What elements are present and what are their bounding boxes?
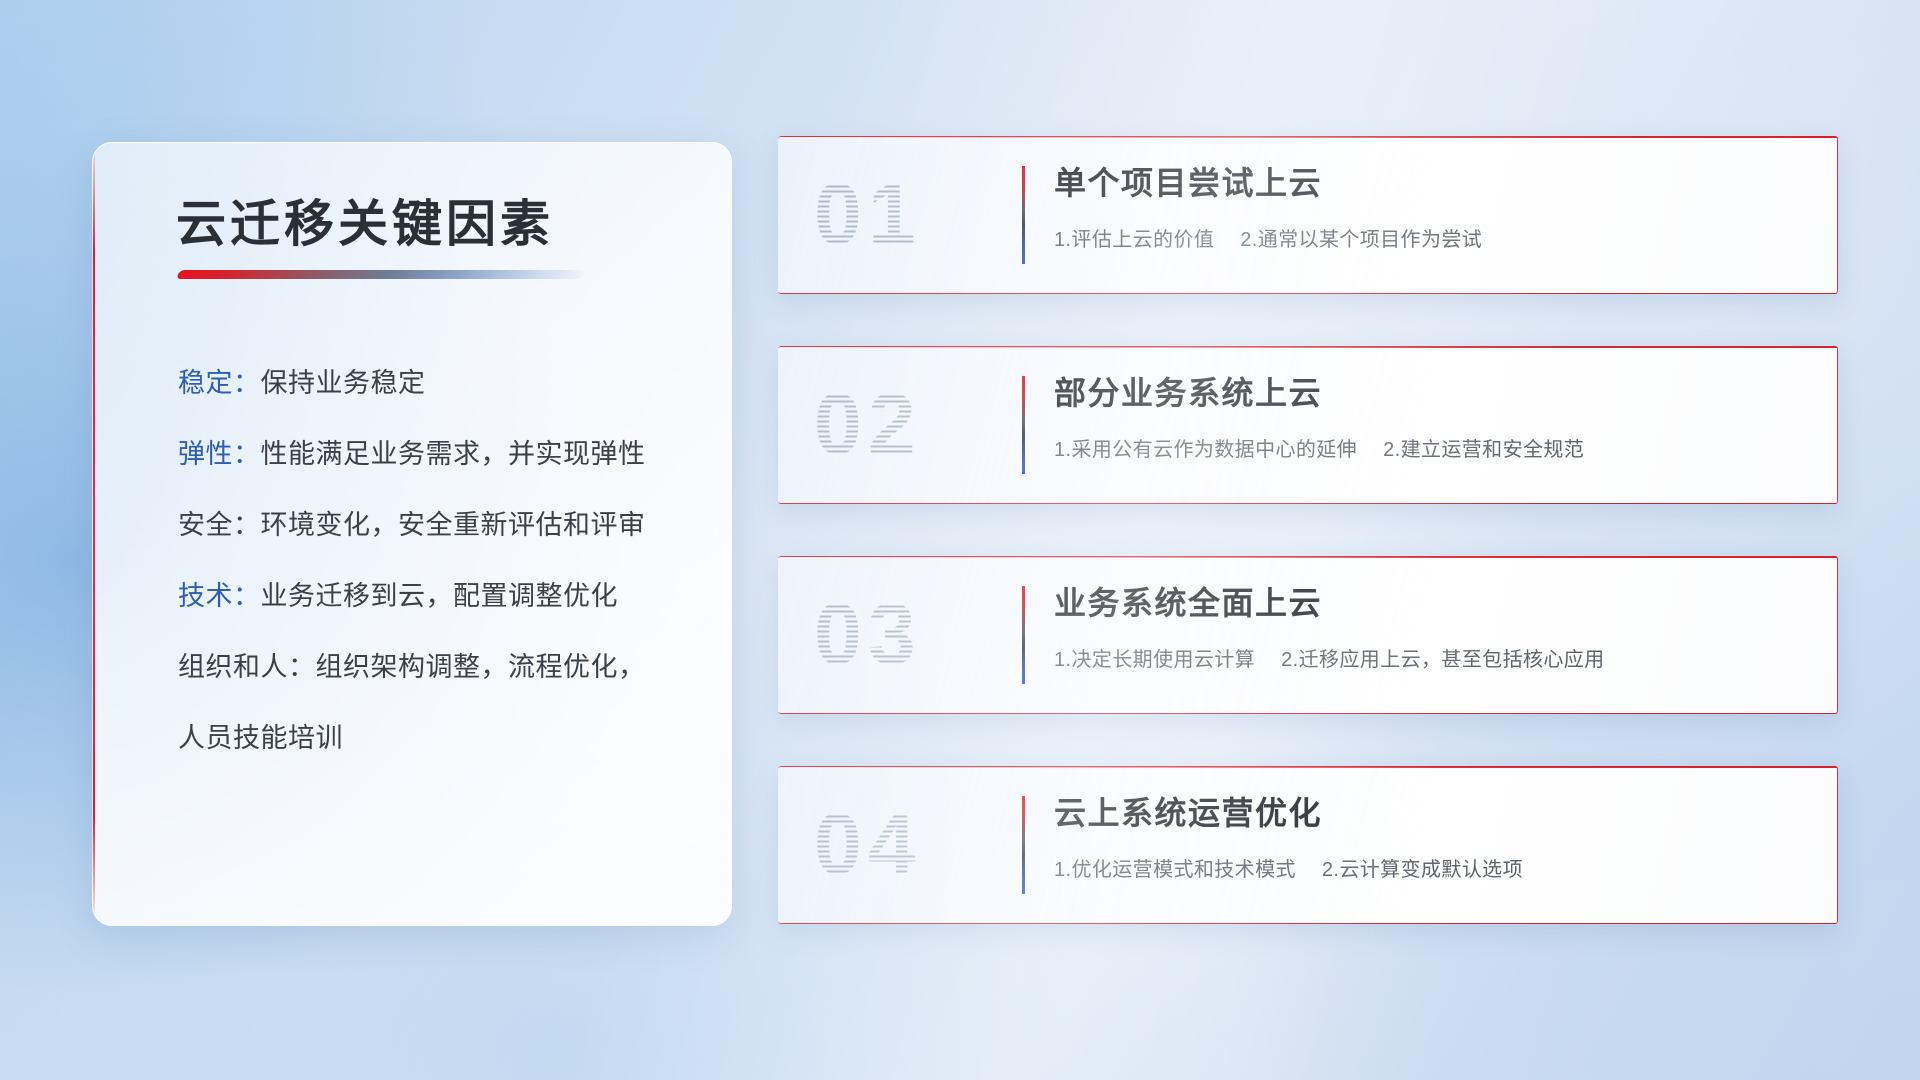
stage-point-2: 2.通常以某个项目作为尝试	[1240, 229, 1482, 251]
stage-point-1: 1.决定长期使用云计算	[1054, 649, 1255, 671]
factor-item-security: 安全：环境变化，安全重新评估和评审	[178, 512, 698, 539]
stage-body: 部分业务系统上云 1.采用公有云作为数据中心的延伸2.建立运营和安全规范	[1054, 376, 1812, 462]
factor-text: 性能满足业务需求，并实现弹性	[261, 439, 646, 469]
slide-canvas: 云迁移关键因素 稳定：保持业务稳定 弹性：性能满足业务需求，并实现弹性 安全：环…	[0, 0, 1920, 1080]
stage-card-04[interactable]: 04 云上系统运营优化 1.优化运营模式和技术模式2.云计算变成默认选项	[778, 766, 1838, 924]
stage-title: 云上系统运营优化	[1054, 796, 1812, 831]
factor-label: 技术：	[178, 581, 261, 611]
card-bottom-border	[778, 713, 1838, 715]
stage-card-03[interactable]: 03 业务系统全面上云 1.决定长期使用云计算2.迁移应用上云，甚至包括核心应用	[778, 556, 1838, 714]
card-top-border	[778, 136, 1838, 138]
stage-title: 部分业务系统上云	[1054, 376, 1812, 411]
factor-list: 稳定：保持业务稳定 弹性：性能满足业务需求，并实现弹性 安全：环境变化，安全重新…	[178, 370, 698, 752]
stage-points: 1.决定长期使用云计算2.迁移应用上云，甚至包括核心应用	[1054, 643, 1812, 672]
card-bottom-border	[778, 923, 1838, 925]
stage-divider-rule	[1022, 796, 1025, 894]
stage-point-2: 2.迁移应用上云，甚至包括核心应用	[1281, 649, 1604, 671]
stage-body: 单个项目尝试上云 1.评估上云的价值2.通常以某个项目作为尝试	[1054, 166, 1812, 252]
stage-title: 业务系统全面上云	[1054, 586, 1812, 621]
factor-label: 组织和人：	[178, 652, 316, 682]
factor-text: 环境变化，安全重新评估和评审	[261, 510, 646, 540]
factor-item-stability: 稳定：保持业务稳定	[178, 370, 698, 397]
stage-card-01[interactable]: 01 单个项目尝试上云 1.评估上云的价值2.通常以某个项目作为尝试	[778, 136, 1838, 294]
stage-divider-rule	[1022, 586, 1025, 684]
stage-point-1: 1.优化运营模式和技术模式	[1054, 859, 1296, 881]
factor-text: 人员技能培训	[178, 723, 343, 753]
factor-item-technology: 技术：业务迁移到云，配置调整优化	[178, 583, 698, 610]
factor-label: 弹性：	[178, 439, 261, 469]
stage-points: 1.评估上云的价值2.通常以某个项目作为尝试	[1054, 223, 1812, 252]
stage-point-2: 2.建立运营和安全规范	[1383, 439, 1584, 461]
stage-number: 01	[814, 166, 922, 265]
page-title: 云迁移关键因素	[176, 184, 554, 256]
stage-point-1: 1.评估上云的价值	[1054, 229, 1214, 251]
factor-label: 稳定：	[178, 368, 261, 398]
card-top-border	[778, 556, 1838, 558]
stage-point-2: 2.云计算变成默认选项	[1322, 859, 1523, 881]
factor-item-organization-cont: 人员技能培训	[178, 725, 698, 752]
stage-number: 04	[814, 796, 922, 895]
factor-text: 组织架构调整，流程优化，	[316, 652, 646, 682]
factor-item-organization: 组织和人：组织架构调整，流程优化，	[178, 654, 698, 681]
stage-number: 02	[814, 376, 922, 475]
stage-title: 单个项目尝试上云	[1054, 166, 1812, 201]
stage-points: 1.优化运营模式和技术模式2.云计算变成默认选项	[1054, 853, 1812, 882]
factor-text: 保持业务稳定	[261, 368, 426, 398]
factor-item-elasticity: 弹性：性能满足业务需求，并实现弹性	[178, 441, 698, 468]
key-factors-panel: 云迁移关键因素 稳定：保持业务稳定 弹性：性能满足业务需求，并实现弹性 安全：环…	[92, 142, 732, 926]
stage-number: 03	[814, 586, 922, 685]
migration-stage-list: 01 单个项目尝试上云 1.评估上云的价值2.通常以某个项目作为尝试 02 部分…	[778, 136, 1838, 924]
stage-body: 业务系统全面上云 1.决定长期使用云计算2.迁移应用上云，甚至包括核心应用	[1054, 586, 1812, 672]
card-top-border	[778, 346, 1838, 348]
card-top-border	[778, 766, 1838, 768]
card-bottom-border	[778, 503, 1838, 505]
stage-points: 1.采用公有云作为数据中心的延伸2.建立运营和安全规范	[1054, 433, 1812, 462]
card-bottom-border	[778, 293, 1838, 295]
stage-card-02[interactable]: 02 部分业务系统上云 1.采用公有云作为数据中心的延伸2.建立运营和安全规范	[778, 346, 1838, 504]
title-underline-rule	[176, 270, 586, 279]
stage-divider-rule	[1022, 376, 1025, 474]
factor-text: 业务迁移到云，配置调整优化	[261, 581, 619, 611]
stage-body: 云上系统运营优化 1.优化运营模式和技术模式2.云计算变成默认选项	[1054, 796, 1812, 882]
factor-label: 安全：	[178, 510, 261, 540]
stage-point-1: 1.采用公有云作为数据中心的延伸	[1054, 439, 1357, 461]
stage-divider-rule	[1022, 166, 1025, 264]
